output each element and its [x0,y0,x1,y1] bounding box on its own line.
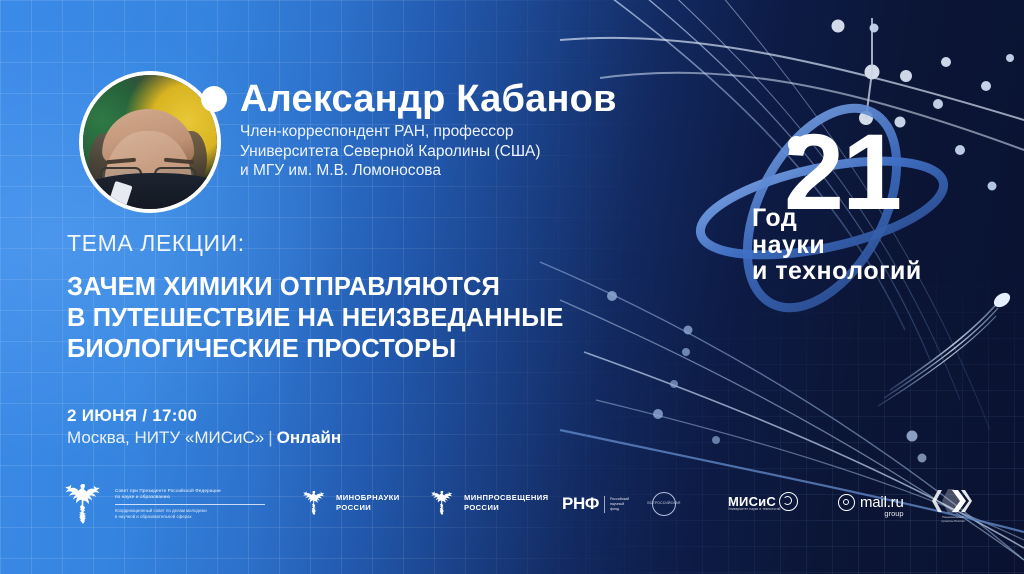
logo-mailru-group: mail.ru group [838,494,904,511]
lecture-label: ТЕМА ЛЕКЦИИ: [67,230,245,257]
emblem-line-2: науки [752,233,962,259]
logo-presidential-council: Совет при Президенте Российской Федераци… [60,480,265,528]
minprosvescheniya-label: МИНПРОСВЕЩЕНИЯ РОССИИ [464,493,548,513]
avatar [79,71,221,213]
council-text: Совет при Президенте Российской Федераци… [115,488,265,520]
rnf-sublabel: Российский научный фонд [610,497,629,512]
council-line-2: Координационный совет по делам молодежи … [115,508,265,520]
at-sign-icon [838,494,855,511]
event-banner: Александр Кабанов Член-корреспондент РАН… [0,0,1024,574]
avatar-accent-dot [201,86,227,112]
year-of-science-emblem: 21 Год науки и технологий [672,96,972,326]
logo-russian-science-foundation: РНФ Российский научный фонд [562,494,629,514]
event-date: 2 ИЮНЯ / 17:00 [67,406,197,426]
avatar-shoulders [79,173,221,213]
logo-minobrnauki: МИНОБРНАУКИ РОССИИ [300,488,400,518]
double-headed-eagle-icon [300,488,328,518]
council-divider [115,504,265,505]
logo-minprosvescheniya: МИНПРОСВЕЩЕНИЯ РОССИИ [428,488,548,518]
partner-logo-bar: Совет при Президенте Российской Федераци… [0,478,1024,540]
chevron-icon [928,488,972,514]
speaker-name: Александр Кабанов [240,78,617,121]
rnf-divider [604,496,605,513]
council-line-1: Совет при Президенте Российской Федераци… [115,488,265,500]
event-venue: Москва, НИТУ «МИСиС»|Онлайн [67,428,341,448]
lecture-title: ЗАЧЕМ ХИМИКИ ОТПРАВЛЯЮТСЯ В ПУТЕШЕСТВИЕ … [67,272,563,365]
misis-swirl-icon [779,492,798,511]
national-projects-sublabel: Национальные проекты России [922,515,984,523]
emblem-line-1: Год [752,206,962,232]
logo-national-projects: Национальные проекты России [928,488,972,514]
event-separator: | [264,428,276,447]
mailru-group-label: group [884,509,903,518]
circular-emblem-label: ВСЕРОССИЙСКАЯ [640,501,688,505]
event-city-venue: Москва, НИТУ «МИСиС» [67,428,264,447]
emblem-line-3: и технологий [752,259,962,285]
logo-circular-emblem: ВСЕРОССИЙСКАЯ [652,492,676,516]
double-headed-eagle-icon [60,480,106,528]
logo-misis: МИСиС Университет науки и технологий [728,492,798,511]
misis-sublabel: Университет науки и технологий [728,507,780,511]
double-headed-eagle-icon [428,488,456,518]
minobrnauki-label: МИНОБРНАУКИ РОССИИ [336,493,400,513]
rnf-mark: РНФ [562,494,599,514]
event-format: Онлайн [277,428,341,447]
emblem-wordmark: Год науки и технологий [752,206,962,285]
speaker-title: Член-корреспондент РАН, профессор Универ… [240,122,541,181]
